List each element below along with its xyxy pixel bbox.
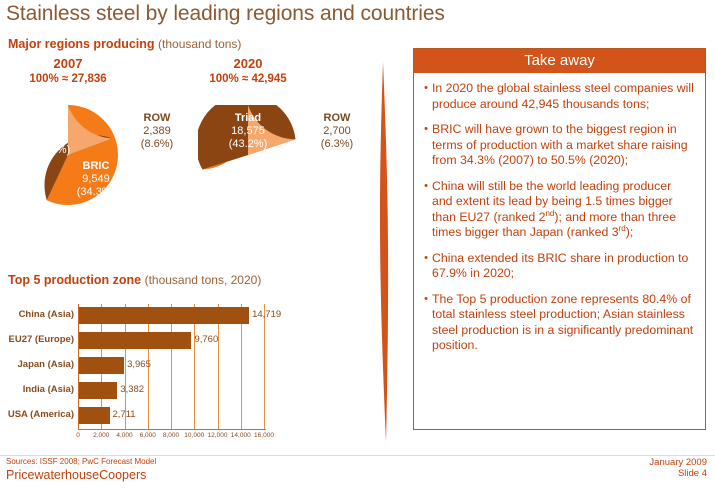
pie-2020-total: 100% ≈ 42,945 <box>198 73 298 85</box>
bar <box>78 357 124 374</box>
takeaway-panel: Take away •In 2020 the global stainless … <box>413 48 706 430</box>
footer-divider <box>0 455 715 456</box>
bar-chart-y-axis <box>78 304 79 429</box>
pie-2007-title: 2007 100% ≈ 27,836 <box>18 56 118 85</box>
bar-value-label: 14,719 <box>252 304 281 326</box>
pie-2007-row-percent: (8.6%) <box>141 138 173 150</box>
pie-2020-triad-name: Triad <box>206 112 290 125</box>
takeaway-item-text: China will still be the world leading pr… <box>432 179 695 241</box>
pie-2020-bric-percent: (50.5%) <box>229 192 268 204</box>
takeaway-item: •The Top 5 production zone represents 80… <box>420 292 695 354</box>
slide-canvas: Stainless steel by leading regions and c… <box>0 0 715 488</box>
pie-2020-triad-percent: (43.2%) <box>229 138 268 150</box>
bar-value-label: 2,711 <box>113 404 136 426</box>
takeaway-item-text: The Top 5 production zone represents 80.… <box>432 292 695 354</box>
takeaway-item: •In 2020 the global stainless steel comp… <box>420 81 695 112</box>
bar <box>78 382 117 399</box>
bar-category-label: China (Asia) <box>0 304 74 326</box>
pie-2007-label-triad: Triad 15,898 (57.1%) <box>8 118 94 157</box>
bar <box>78 407 110 424</box>
pie-2007-row-name: ROW <box>126 112 188 125</box>
footer-meta: January 2009 Slide 4 <box>649 457 707 479</box>
bullet-icon: • <box>420 251 432 266</box>
pie-2020-row-name: ROW <box>306 112 368 125</box>
top5-section-heading: Top 5 production zone (thousand tons, 20… <box>8 273 261 287</box>
pie-2007-bric-value: 9,549 <box>82 173 110 185</box>
pie-2020-bric-name: BRIC <box>206 166 290 179</box>
pie-2020-row-value: 2,700 <box>323 125 351 137</box>
takeaway-item: •China extended its BRIC share in produc… <box>420 251 695 282</box>
bar <box>78 332 191 349</box>
pie-2020-title: 2020 100% ≈ 42,945 <box>198 56 298 85</box>
takeaway-item: •BRIC will have grown to the biggest reg… <box>420 122 695 169</box>
takeaway-bullet-list: •In 2020 the global stainless steel comp… <box>414 73 705 354</box>
bar-chart: China (Asia)14,719EU27 (Europe)9,760Japa… <box>0 296 300 446</box>
pie-2020-bric-value: 21,670 <box>231 179 265 191</box>
pie-2007-label-bric: BRIC 9,549 (34.3%) <box>60 160 132 199</box>
pie-2020-label-row: ROW 2,700 (6.3%) <box>306 112 368 151</box>
x-tick-label: 4,000 <box>116 432 132 439</box>
takeaway-item-text: China extended its BRIC share in product… <box>432 251 695 282</box>
bar-value-label: 9,760 <box>194 329 218 351</box>
top5-heading-sub: (thousand tons, 2020) <box>145 273 262 287</box>
takeaway-header: Take away <box>414 49 705 73</box>
page-title: Stainless steel by leading regions and c… <box>6 2 445 26</box>
pie-2007-year: 2007 <box>18 56 118 71</box>
x-tick-label: 12,000 <box>208 432 228 439</box>
bullet-icon: • <box>420 292 432 307</box>
bullet-icon: • <box>420 81 432 96</box>
x-tick-label: 14,000 <box>231 432 251 439</box>
regions-heading-strong: Major regions producing <box>8 37 155 51</box>
pie-2020-label-triad: Triad 18,575 (43.2%) <box>206 112 290 151</box>
pie-2007-triad-value: 15,898 <box>34 131 68 143</box>
pwc-logo: PricewaterhouseCoopers <box>6 468 146 482</box>
pie-2007-label-row: ROW 2,389 (8.6%) <box>126 112 188 151</box>
x-tick-label: 16,000 <box>254 432 274 439</box>
x-tick-label: 6,000 <box>140 432 156 439</box>
bar-category-label: USA (America) <box>0 404 74 426</box>
x-tick-label: 8,000 <box>163 432 179 439</box>
pie-2020-row-percent: (6.3%) <box>321 138 353 150</box>
pie-2020-triad-value: 18,575 <box>231 125 265 137</box>
bar-category-label: Japan (Asia) <box>0 354 74 376</box>
bar-category-label: India (Asia) <box>0 379 74 401</box>
pie-2007-bric-name: BRIC <box>60 160 132 173</box>
lens-divider-shape <box>372 62 394 442</box>
bar-category-label: EU27 (Europe) <box>0 329 74 351</box>
pie-2007-triad-percent: (57.1%) <box>32 144 71 156</box>
x-tick-label: 2,000 <box>93 432 109 439</box>
pie-2020-label-bric: BRIC 21,670 (50.5%) <box>206 166 290 205</box>
bar-value-label: 3,965 <box>127 354 151 376</box>
footer-slide-number: Slide 4 <box>678 468 707 479</box>
x-tick-label: 10,000 <box>184 432 204 439</box>
takeaway-item-text: BRIC will have grown to the biggest regi… <box>432 122 695 169</box>
regions-heading-sub: (thousand tons) <box>158 37 241 51</box>
sources-note: Sources: ISSF 2008; PwC Forecast Model <box>6 457 156 466</box>
takeaway-item-text: In 2020 the global stainless steel compa… <box>432 81 695 112</box>
pie-2007-triad-name: Triad <box>8 118 94 131</box>
pie-2020-year: 2020 <box>198 56 298 71</box>
regions-section-heading: Major regions producing (thousand tons) <box>8 37 241 51</box>
bar-value-label: 3,382 <box>120 379 144 401</box>
bar-chart-x-axis <box>78 429 266 430</box>
bullet-icon: • <box>420 179 432 194</box>
takeaway-item: •China will still be the world leading p… <box>420 179 695 241</box>
footer-date: January 2009 <box>649 457 707 468</box>
bar <box>78 307 249 324</box>
x-tick-label: 0 <box>76 432 80 439</box>
top5-heading-strong: Top 5 production zone <box>8 273 141 287</box>
pie-2007-bric-percent: (34.3%) <box>77 186 116 198</box>
pie-2007-row-value: 2,389 <box>143 125 171 137</box>
pie-2007-total: 100% ≈ 27,836 <box>18 73 118 85</box>
bullet-icon: • <box>420 122 432 137</box>
